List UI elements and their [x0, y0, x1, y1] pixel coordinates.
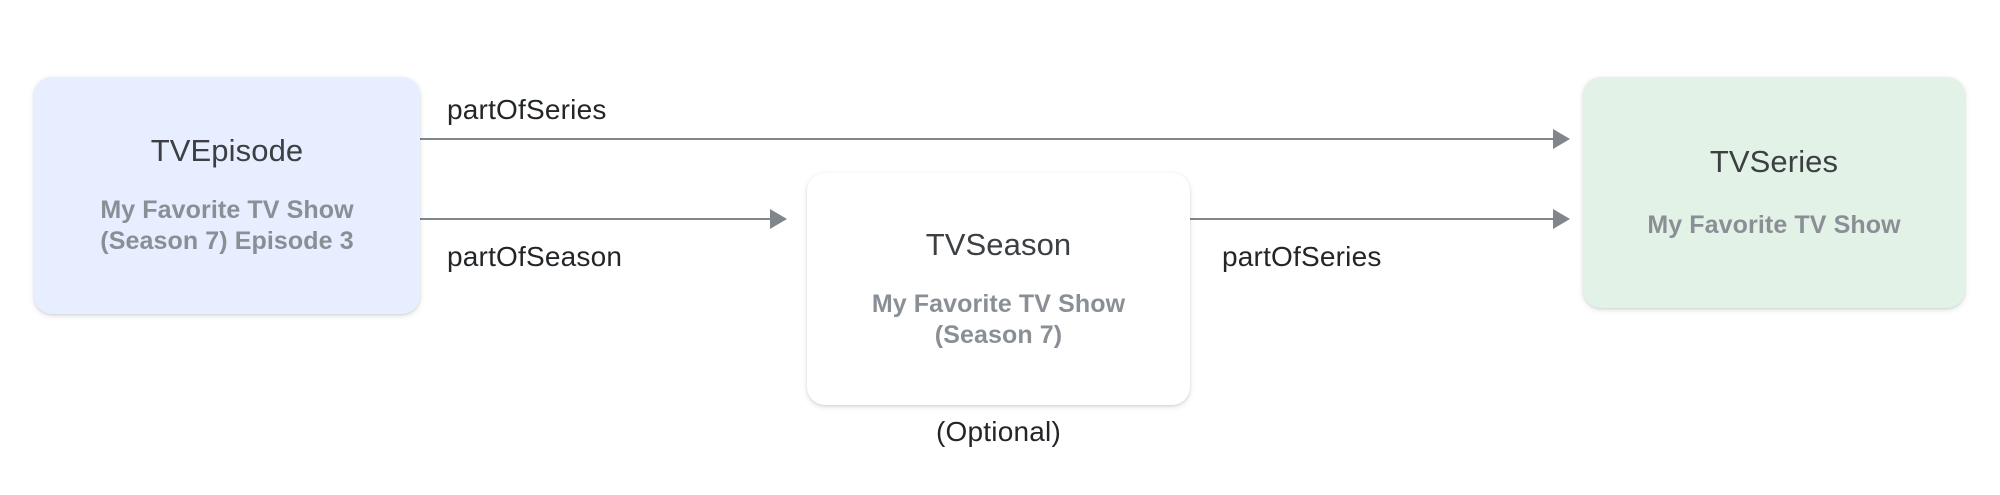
edge-line-partofseason-episode-to-season — [420, 218, 770, 220]
node-tvepisode[interactable]: TVEpisode My Favorite TV Show (Season 7)… — [34, 77, 420, 314]
edge-line-partofseries-season-to-series — [1190, 218, 1553, 220]
caption-optional: (Optional) — [807, 418, 1190, 446]
node-tvseries[interactable]: TVSeries My Favorite TV Show — [1583, 77, 1965, 308]
edge-line-partofseries-episode-to-series — [420, 138, 1553, 140]
arrow-head-icon-partofseries-episode-to-series — [1553, 129, 1570, 149]
edge-label-partofseries-episode-to-series: partOfSeries — [447, 96, 607, 124]
node-tvseries-title: TVSeries — [1710, 144, 1838, 180]
node-tvseason-title: TVSeason — [926, 227, 1072, 263]
node-tvseason[interactable]: TVSeason My Favorite TV Show (Season 7) — [807, 173, 1190, 405]
arrow-head-icon-partofseason-episode-to-season — [770, 209, 787, 229]
node-tvseason-subtitle: My Favorite TV Show (Season 7) — [872, 289, 1125, 352]
edge-label-partofseason-episode-to-season: partOfSeason — [447, 243, 622, 271]
edge-label-partofseries-season-to-series: partOfSeries — [1222, 243, 1382, 271]
node-tvepisode-title: TVEpisode — [151, 133, 304, 169]
diagram-canvas: partOfSeries partOfSeason partOfSeries T… — [0, 0, 2000, 495]
node-tvseries-subtitle: My Favorite TV Show — [1647, 210, 1900, 241]
arrow-head-icon-partofseries-season-to-series — [1553, 209, 1570, 229]
node-tvepisode-subtitle: My Favorite TV Show (Season 7) Episode 3 — [100, 195, 353, 258]
